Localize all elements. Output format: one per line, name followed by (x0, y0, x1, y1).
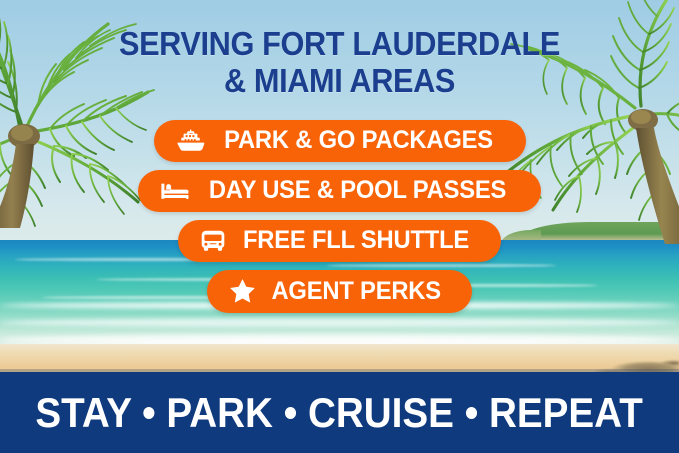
headline-line-1: SERVING FORT LAUDERDALE (119, 25, 560, 62)
headline-line-2: & MIAMI AREAS (24, 63, 655, 100)
pill-label: PARK & GO PACKAGES (224, 128, 493, 153)
bed-icon (160, 179, 190, 203)
banner-tagline: STAY • PARK • CRUISE • REPEAT (36, 392, 643, 434)
page-title: SERVING FORT LAUDERDALE & MIAMI AREAS (24, 26, 655, 100)
pill-free-fll-shuttle[interactable]: FREE FLL SHUTTLE (178, 220, 501, 262)
pill-label: DAY USE & POOL PASSES (209, 178, 506, 203)
feature-pill-list: PARK & GO PACKAGES DAY USE & POOL PASSES (0, 120, 679, 313)
pill-agent-perks[interactable]: AGENT PERKS (207, 270, 471, 313)
star-icon (229, 278, 256, 304)
bus-icon (200, 229, 226, 253)
pill-day-use-and-pool-passes[interactable]: DAY USE & POOL PASSES (138, 170, 540, 212)
ship-icon (176, 129, 206, 153)
pill-park-and-go-packages[interactable]: PARK & GO PACKAGES (154, 120, 526, 162)
pill-label: AGENT PERKS (272, 279, 441, 304)
pill-label: FREE FLL SHUTTLE (243, 228, 469, 253)
bottom-banner: STAY • PARK • CRUISE • REPEAT (0, 372, 679, 453)
promo-banner-image: SERVING FORT LAUDERDALE & MIAMI AREAS (0, 0, 679, 453)
